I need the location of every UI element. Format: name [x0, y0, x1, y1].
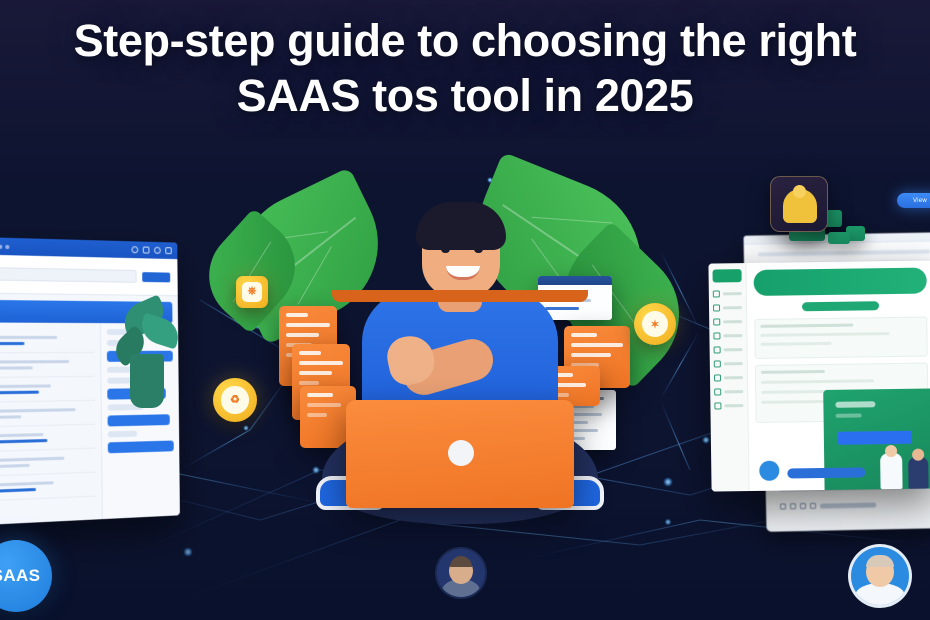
chat-bubble[interactable]	[108, 441, 174, 454]
calendar-icon	[713, 318, 720, 325]
user-icon[interactable]	[154, 247, 161, 254]
bold-icon[interactable]	[780, 503, 786, 509]
promo-highlight-button[interactable]	[838, 431, 912, 445]
green-tile-4[interactable]	[828, 232, 850, 244]
laptop-logo	[448, 440, 474, 466]
chat-label	[108, 431, 137, 438]
cta-pill-button[interactable]	[802, 301, 878, 311]
mail-icon	[714, 346, 721, 353]
table-row[interactable]	[0, 377, 95, 403]
gear-icon	[714, 388, 721, 395]
page-title: Step-step guide to choosing the right SA…	[0, 14, 930, 124]
sidebar-item[interactable]	[713, 290, 742, 297]
link-icon[interactable]	[810, 503, 816, 509]
left-panel-searchbar[interactable]	[0, 255, 178, 297]
laptop-base	[332, 290, 588, 302]
sidebar-item[interactable]	[713, 318, 742, 325]
rocket-launch-icon[interactable]: ✶	[634, 303, 676, 345]
italic-icon[interactable]	[790, 503, 796, 509]
share-nodes-icon[interactable]: ⎈	[236, 276, 268, 308]
seated-person-with-laptop	[310, 186, 610, 586]
cart-icon[interactable]	[143, 247, 150, 254]
hero-banner-card[interactable]	[754, 268, 927, 296]
sidebar-item[interactable]	[714, 388, 743, 395]
avatar-center[interactable]	[437, 549, 485, 597]
menu-icon[interactable]	[165, 247, 172, 254]
table-row[interactable]	[0, 329, 94, 354]
chart-icon	[713, 332, 720, 339]
table-row[interactable]	[0, 473, 96, 501]
laptop	[346, 400, 574, 508]
sidebar-item[interactable]	[714, 402, 743, 409]
recycle-gears-icon[interactable]: ♻	[213, 378, 257, 422]
hair	[416, 202, 506, 250]
tag-icon	[714, 374, 721, 381]
title-line-2: SAAS tos tool in 2025	[0, 69, 930, 124]
chat-fab-button[interactable]	[759, 461, 779, 481]
right-panel-sidebar[interactable]	[708, 263, 749, 492]
app-logo	[713, 269, 742, 282]
content-card[interactable]	[754, 317, 928, 359]
view-button[interactable]: View	[897, 193, 930, 208]
sidebar-item[interactable]	[714, 346, 743, 353]
folder-icon	[714, 360, 721, 367]
eye-left	[441, 242, 450, 253]
widget-icon-row[interactable]	[780, 500, 930, 509]
sidebar-item[interactable]	[713, 304, 742, 311]
primary-action-button[interactable]	[142, 272, 170, 282]
hero-banner: Step-step guide to choosing the right SA…	[0, 0, 930, 620]
window-dots	[0, 244, 9, 249]
dashboard-icon	[713, 290, 720, 297]
left-panel-body	[0, 323, 180, 525]
title-line-1: Step-step guide to choosing the right	[0, 14, 930, 69]
list-icon[interactable]	[800, 503, 806, 509]
chat-label	[107, 378, 132, 384]
sidebar-item[interactable]	[714, 374, 743, 381]
help-icon	[714, 402, 721, 409]
person-head	[793, 185, 806, 198]
table-row[interactable]	[0, 401, 95, 427]
avatar-bottom-right[interactable]	[851, 547, 909, 605]
right-panel-content	[746, 260, 930, 491]
widget-label	[820, 502, 876, 508]
table-row[interactable]	[0, 353, 94, 378]
sidebar-item[interactable]	[713, 332, 742, 339]
table-row[interactable]	[0, 425, 95, 452]
search-input[interactable]	[0, 267, 137, 283]
submit-button[interactable]	[787, 467, 865, 478]
search-icon[interactable]	[132, 246, 139, 253]
users-icon	[713, 304, 720, 311]
eye-right	[474, 242, 483, 253]
left-panel-toolbar-icons[interactable]	[132, 246, 172, 254]
video-call-card[interactable]	[770, 176, 828, 232]
chat-bubble[interactable]	[107, 414, 169, 426]
sidebar-item[interactable]	[714, 360, 743, 367]
right-dashboard-panel[interactable]	[708, 260, 930, 491]
left-panel-table[interactable]	[0, 323, 102, 525]
